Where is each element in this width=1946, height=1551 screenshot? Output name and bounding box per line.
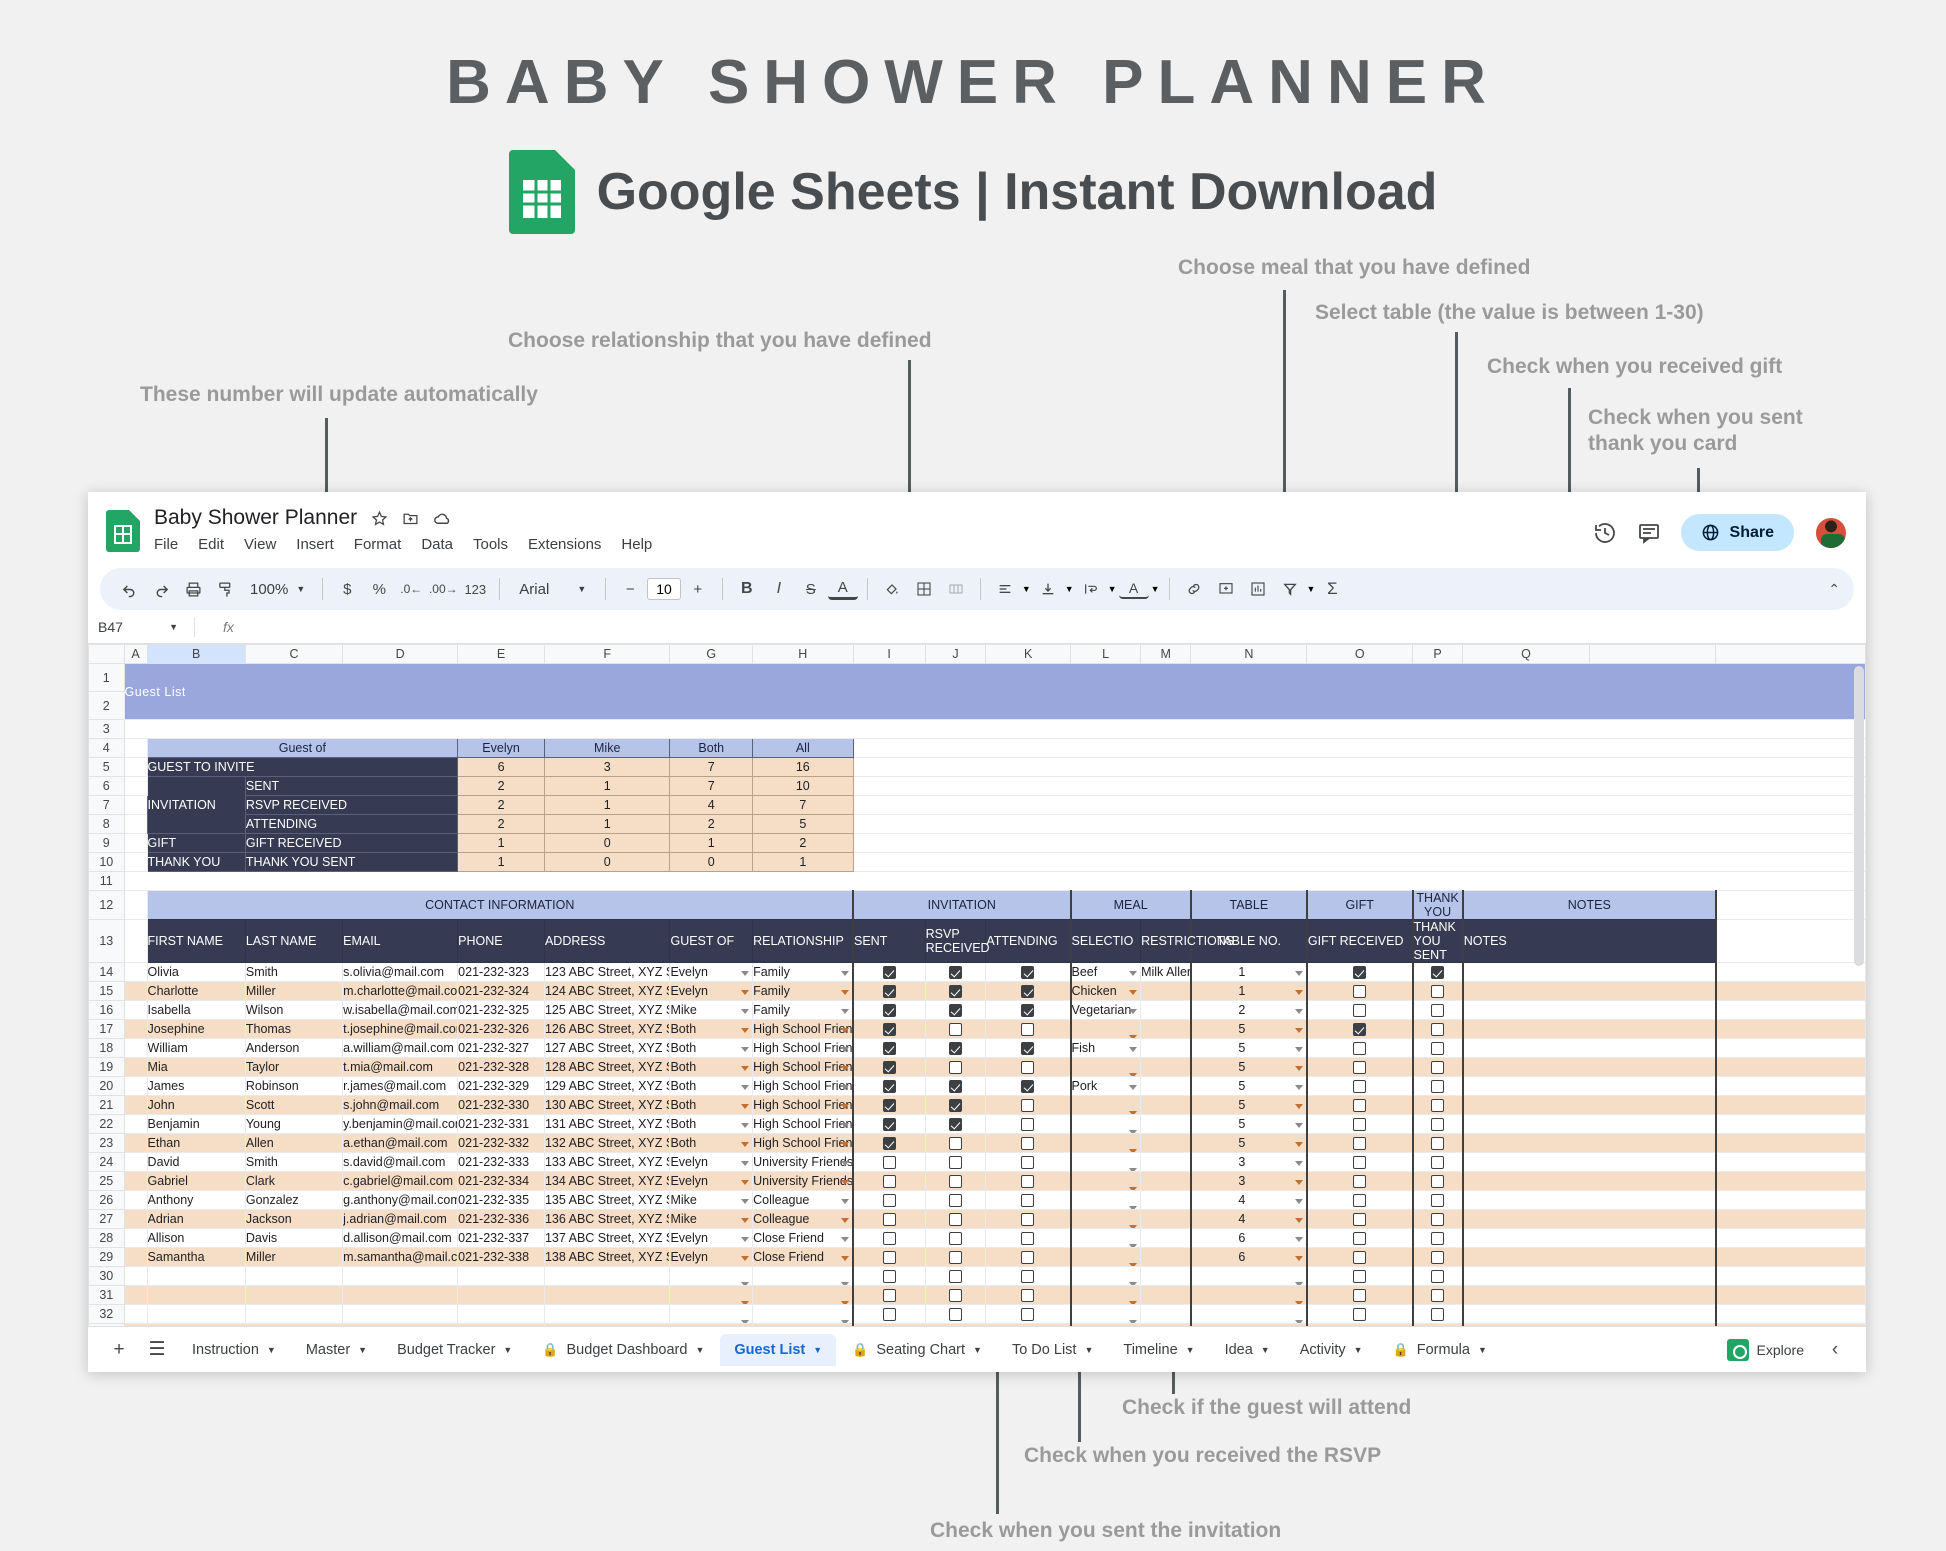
undo-icon[interactable] bbox=[114, 574, 144, 604]
cell-far-right[interactable] bbox=[1716, 1096, 1866, 1115]
cell-A[interactable] bbox=[124, 1001, 147, 1020]
sheet-tab-timeline[interactable]: Timeline▼ bbox=[1109, 1334, 1208, 1366]
col-I[interactable]: I bbox=[853, 645, 925, 664]
cell-phone[interactable]: 021-232-326 bbox=[458, 1020, 545, 1039]
table-row[interactable]: 16IsabellaWilsonw.isabella@mail.com021-2… bbox=[89, 1001, 1866, 1020]
table-row[interactable]: 22BenjaminYoungy.benjamin@mail.com021-23… bbox=[89, 1115, 1866, 1134]
cell-thankyou-sent[interactable] bbox=[1413, 1267, 1463, 1286]
cell-guest-of[interactable]: Evelyn bbox=[670, 1229, 753, 1248]
sheet-tab-master[interactable]: Master▼ bbox=[292, 1334, 381, 1366]
cell-gift-received[interactable] bbox=[1307, 1096, 1413, 1115]
cell-address[interactable] bbox=[544, 1286, 670, 1305]
cell-restrictions[interactable] bbox=[1141, 1305, 1191, 1324]
cell-address[interactable]: 124 ABC Street, XYZ State, 1( bbox=[544, 982, 670, 1001]
cell-sent[interactable] bbox=[853, 1134, 925, 1153]
checkbox-sent[interactable] bbox=[883, 1251, 896, 1264]
cell-first-name[interactable]: Anthony bbox=[147, 1191, 245, 1210]
cell-A[interactable] bbox=[124, 1039, 147, 1058]
cell-meal-selection[interactable] bbox=[1071, 1058, 1141, 1077]
checkbox-thankyou-sent[interactable] bbox=[1431, 1251, 1444, 1264]
cell-guest-of[interactable]: Both bbox=[670, 1077, 753, 1096]
cell-A[interactable] bbox=[124, 1153, 147, 1172]
cell-restrictions[interactable] bbox=[1141, 1153, 1191, 1172]
checkbox-attending[interactable] bbox=[1021, 1156, 1034, 1169]
cell-first-name[interactable]: Gabriel bbox=[147, 1172, 245, 1191]
cloud-saved-icon[interactable] bbox=[433, 510, 452, 527]
summary-val-1-3[interactable]: 10 bbox=[753, 777, 853, 796]
checkbox-gift-received[interactable] bbox=[1353, 1042, 1366, 1055]
empty-right-10[interactable] bbox=[853, 853, 1866, 872]
summary-val-3-0[interactable]: 2 bbox=[458, 815, 545, 834]
summary-val-2-3[interactable]: 7 bbox=[753, 796, 853, 815]
cell-phone[interactable]: 021-232-337 bbox=[458, 1229, 545, 1248]
cell-thankyou-sent[interactable] bbox=[1413, 1134, 1463, 1153]
cell-sent[interactable] bbox=[853, 1039, 925, 1058]
cell-attending[interactable] bbox=[986, 1096, 1071, 1115]
sheet-tab-instruction[interactable]: Instruction▼ bbox=[178, 1334, 290, 1366]
cell-table-no[interactable]: 1 bbox=[1191, 982, 1307, 1001]
sheet-tab-formula[interactable]: 🔒Formula▼ bbox=[1379, 1334, 1501, 1366]
cell-meal-selection[interactable] bbox=[1071, 1248, 1141, 1267]
checkbox-attending[interactable] bbox=[1021, 1023, 1034, 1036]
col-O[interactable]: O bbox=[1307, 645, 1413, 664]
menu-insert[interactable]: Insert bbox=[296, 536, 334, 553]
checkbox-sent[interactable] bbox=[883, 1023, 896, 1036]
checkbox-attending[interactable] bbox=[1021, 1099, 1034, 1112]
vertical-align-icon[interactable] bbox=[1033, 574, 1063, 604]
checkbox-gift-received[interactable] bbox=[1353, 1175, 1366, 1188]
checkbox-attending[interactable] bbox=[1021, 1118, 1034, 1131]
cell-sent[interactable] bbox=[853, 1286, 925, 1305]
checkbox-gift-received[interactable] bbox=[1353, 1270, 1366, 1283]
cell-email[interactable]: g.anthony@mail.com bbox=[343, 1191, 458, 1210]
cell-notes[interactable] bbox=[1463, 1001, 1716, 1020]
chevron-down-icon[interactable]: ▼ bbox=[358, 1345, 367, 1355]
checkbox-attending[interactable] bbox=[1021, 1004, 1034, 1017]
cell-notes[interactable] bbox=[1463, 1077, 1716, 1096]
col-H[interactable]: H bbox=[753, 645, 853, 664]
menu-help[interactable]: Help bbox=[621, 536, 652, 553]
comment-icon[interactable] bbox=[1637, 522, 1661, 544]
sheet-tab-to-do-list[interactable]: To Do List▼ bbox=[998, 1334, 1107, 1366]
row-header-14[interactable]: 14 bbox=[89, 963, 125, 982]
cell-restrictions[interactable] bbox=[1141, 1096, 1191, 1115]
checkbox-sent[interactable] bbox=[883, 1042, 896, 1055]
cell-relationship[interactable]: Colleague bbox=[753, 1191, 853, 1210]
cell-notes[interactable] bbox=[1463, 1229, 1716, 1248]
cell-restrictions[interactable] bbox=[1141, 1020, 1191, 1039]
cell-address[interactable]: 132 ABC Street, XYZ State, 1( bbox=[544, 1134, 670, 1153]
cell-A[interactable] bbox=[124, 1172, 147, 1191]
cell-attending[interactable] bbox=[986, 1134, 1071, 1153]
cell-thankyou-sent[interactable] bbox=[1413, 1153, 1463, 1172]
table-row[interactable]: 30 bbox=[89, 1267, 1866, 1286]
cell-table-no[interactable]: 4 bbox=[1191, 1210, 1307, 1229]
cell-notes[interactable] bbox=[1463, 963, 1716, 982]
col-G[interactable]: G bbox=[670, 645, 753, 664]
cell-table-no[interactable]: 5 bbox=[1191, 1020, 1307, 1039]
vertical-align-caret-icon[interactable]: ▼ bbox=[1065, 584, 1074, 594]
cell-relationship[interactable]: Family bbox=[753, 1001, 853, 1020]
cell-notes[interactable] bbox=[1463, 1210, 1716, 1229]
cell-address[interactable]: 134 ABC Street, XYZ State, 1( bbox=[544, 1172, 670, 1191]
cell-thankyou-sent[interactable] bbox=[1413, 1058, 1463, 1077]
cell-last-name[interactable]: Clark bbox=[245, 1172, 342, 1191]
insert-link-icon[interactable] bbox=[1179, 574, 1209, 604]
cell-phone[interactable]: 021-232-325 bbox=[458, 1001, 545, 1020]
checkbox-sent[interactable] bbox=[883, 1061, 896, 1074]
cell-notes[interactable] bbox=[1463, 1115, 1716, 1134]
chevron-down-icon[interactable]: ▼ bbox=[973, 1345, 982, 1355]
cell-attending[interactable] bbox=[986, 1020, 1071, 1039]
checkbox-gift-received[interactable] bbox=[1353, 1137, 1366, 1150]
cell-table-no[interactable]: 6 bbox=[1191, 1248, 1307, 1267]
summary-val-3-2[interactable]: 2 bbox=[670, 815, 753, 834]
cell-last-name[interactable]: Miller bbox=[245, 982, 342, 1001]
cell-meal-selection[interactable] bbox=[1071, 1267, 1141, 1286]
cell-gift-received[interactable] bbox=[1307, 963, 1413, 982]
strikethrough-icon[interactable]: S bbox=[796, 574, 826, 604]
cell-first-name[interactable]: Allison bbox=[147, 1229, 245, 1248]
cell-A[interactable] bbox=[124, 1286, 147, 1305]
cell-far-right[interactable] bbox=[1716, 1115, 1866, 1134]
cell-address[interactable]: 136 ABC Street, XYZ State, 1( bbox=[544, 1210, 670, 1229]
cell-email[interactable]: d.allison@mail.com bbox=[343, 1229, 458, 1248]
checkbox-attending[interactable] bbox=[1021, 1232, 1034, 1245]
cell-last-name[interactable]: Davis bbox=[245, 1229, 342, 1248]
document-title[interactable]: Baby Shower Planner bbox=[154, 506, 357, 530]
cell-last-name[interactable]: Robinson bbox=[245, 1077, 342, 1096]
cell-sent[interactable] bbox=[853, 982, 925, 1001]
cell-meal-selection[interactable] bbox=[1071, 1172, 1141, 1191]
cell-sent[interactable] bbox=[853, 1191, 925, 1210]
cell-table-no[interactable]: 5 bbox=[1191, 1134, 1307, 1153]
cell-far-right[interactable] bbox=[1716, 1020, 1866, 1039]
empty-right-8[interactable] bbox=[853, 815, 1866, 834]
cell-gift-received[interactable] bbox=[1307, 1210, 1413, 1229]
checkbox-thankyou-sent[interactable] bbox=[1431, 985, 1444, 998]
cell-relationship[interactable]: High School Friends bbox=[753, 1134, 853, 1153]
checkbox-thankyou-sent[interactable] bbox=[1431, 1137, 1444, 1150]
cell-guest-of[interactable]: Both bbox=[670, 1058, 753, 1077]
cell-address[interactable]: 137 ABC Street, XYZ State, 1( bbox=[544, 1229, 670, 1248]
checkbox-sent[interactable] bbox=[883, 1156, 896, 1169]
checkbox-sent[interactable] bbox=[883, 1099, 896, 1112]
cell-table-no[interactable]: 5 bbox=[1191, 1058, 1307, 1077]
row-header-10[interactable]: 10 bbox=[89, 853, 125, 872]
cell-A[interactable] bbox=[124, 1267, 147, 1286]
cell-first-name[interactable]: Samantha bbox=[147, 1248, 245, 1267]
summary-val-0-2[interactable]: 7 bbox=[670, 758, 753, 777]
checkbox-gift-received[interactable] bbox=[1353, 1023, 1366, 1036]
row-header-16[interactable]: 16 bbox=[89, 1001, 125, 1020]
checkbox-rsvp-received[interactable] bbox=[949, 1042, 962, 1055]
row-header-15[interactable]: 15 bbox=[89, 982, 125, 1001]
row-header-31[interactable]: 31 bbox=[89, 1286, 125, 1305]
cell-notes[interactable] bbox=[1463, 1096, 1716, 1115]
cell-sent[interactable] bbox=[853, 1172, 925, 1191]
sheet-tab-budget-tracker[interactable]: Budget Tracker▼ bbox=[383, 1334, 526, 1366]
cell-gift-received[interactable] bbox=[1307, 1001, 1413, 1020]
cell-phone[interactable] bbox=[458, 1286, 545, 1305]
cell-A6[interactable] bbox=[124, 777, 147, 796]
summary-val-4-2[interactable]: 1 bbox=[670, 834, 753, 853]
cell-attending[interactable] bbox=[986, 1077, 1071, 1096]
cell-address[interactable]: 131 ABC Street, XYZ State, 1( bbox=[544, 1115, 670, 1134]
select-all-corner[interactable] bbox=[89, 645, 125, 664]
chevron-down-icon[interactable]: ▼ bbox=[813, 1345, 822, 1355]
cell-last-name[interactable]: Wilson bbox=[245, 1001, 342, 1020]
cell-table-no[interactable]: 5 bbox=[1191, 1096, 1307, 1115]
row-header-21[interactable]: 21 bbox=[89, 1096, 125, 1115]
table-row[interactable]: 18WilliamAndersona.william@mail.com021-2… bbox=[89, 1039, 1866, 1058]
cell-relationship[interactable]: Family bbox=[753, 963, 853, 982]
cell-meal-selection[interactable]: Chicken bbox=[1071, 982, 1141, 1001]
table-row[interactable]: 24DavidSmiths.david@mail.com021-232-3331… bbox=[89, 1153, 1866, 1172]
checkbox-rsvp-received[interactable] bbox=[949, 1175, 962, 1188]
checkbox-attending[interactable] bbox=[1021, 966, 1034, 979]
col-P[interactable]: P bbox=[1413, 645, 1463, 664]
checkbox-thankyou-sent[interactable] bbox=[1431, 966, 1444, 979]
empty-right-5[interactable] bbox=[853, 758, 1866, 777]
sheet-tab-seating-chart[interactable]: 🔒Seating Chart▼ bbox=[838, 1334, 996, 1366]
cell-attending[interactable] bbox=[986, 1210, 1071, 1229]
row-header-4[interactable]: 4 bbox=[89, 739, 125, 758]
cell-attending[interactable] bbox=[986, 963, 1071, 982]
cell-notes[interactable] bbox=[1463, 1191, 1716, 1210]
cell-rsvp-received[interactable] bbox=[925, 1229, 986, 1248]
cell-thankyou-sent[interactable] bbox=[1413, 1039, 1463, 1058]
cell-table-no[interactable] bbox=[1191, 1286, 1307, 1305]
cell-thankyou-sent[interactable] bbox=[1413, 963, 1463, 982]
text-wrap-caret-icon[interactable]: ▼ bbox=[1108, 584, 1117, 594]
table-row[interactable]: 29SamanthaMillerm.samantha@mail.com021-2… bbox=[89, 1248, 1866, 1267]
cell-A[interactable] bbox=[124, 1077, 147, 1096]
checkbox-gift-received[interactable] bbox=[1353, 1118, 1366, 1131]
menu-extensions[interactable]: Extensions bbox=[528, 536, 601, 553]
checkbox-rsvp-received[interactable] bbox=[949, 1232, 962, 1245]
text-wrap-icon[interactable] bbox=[1076, 574, 1106, 604]
cell-notes[interactable] bbox=[1463, 1039, 1716, 1058]
redo-icon[interactable] bbox=[146, 574, 176, 604]
cell-thankyou-sent[interactable] bbox=[1413, 1286, 1463, 1305]
cell-email[interactable]: w.isabella@mail.com bbox=[343, 1001, 458, 1020]
cell-far-right[interactable] bbox=[1716, 963, 1866, 982]
cell-relationship[interactable] bbox=[753, 1305, 853, 1324]
collapse-toolbar-icon[interactable]: ⌃ bbox=[1828, 581, 1840, 598]
name-box[interactable]: B47▼ bbox=[98, 619, 184, 635]
cell-A4[interactable] bbox=[124, 739, 147, 758]
cell-rsvp-received[interactable] bbox=[925, 1077, 986, 1096]
cell-notes[interactable] bbox=[1463, 1267, 1716, 1286]
summary-val-5-3[interactable]: 1 bbox=[753, 853, 853, 872]
checkbox-gift-received[interactable] bbox=[1353, 1232, 1366, 1245]
cell-thankyou-sent[interactable] bbox=[1413, 1020, 1463, 1039]
cell-phone[interactable]: 021-232-336 bbox=[458, 1210, 545, 1229]
cell-gift-received[interactable] bbox=[1307, 1229, 1413, 1248]
table-row[interactable]: 27AdrianJacksonj.adrian@mail.com021-232-… bbox=[89, 1210, 1866, 1229]
cell-thankyou-sent[interactable] bbox=[1413, 1248, 1463, 1267]
cell-sent[interactable] bbox=[853, 963, 925, 982]
cell-relationship[interactable]: High School Friends bbox=[753, 1077, 853, 1096]
cell-A[interactable] bbox=[124, 1058, 147, 1077]
cell-first-name[interactable] bbox=[147, 1267, 245, 1286]
cell-gift-received[interactable] bbox=[1307, 1286, 1413, 1305]
cell-far-right[interactable] bbox=[1716, 1267, 1866, 1286]
cell-first-name[interactable]: Josephine bbox=[147, 1020, 245, 1039]
summary-val-0-1[interactable]: 3 bbox=[544, 758, 670, 777]
cell-last-name[interactable]: Smith bbox=[245, 1153, 342, 1172]
checkbox-attending[interactable] bbox=[1021, 1080, 1034, 1093]
cell-guest-of[interactable]: Evelyn bbox=[670, 1172, 753, 1191]
cell-restrictions[interactable] bbox=[1141, 1267, 1191, 1286]
cell-gift-received[interactable] bbox=[1307, 982, 1413, 1001]
vertical-scrollbar[interactable] bbox=[1854, 666, 1864, 1346]
row-header-8[interactable]: 8 bbox=[89, 815, 125, 834]
cell-A[interactable] bbox=[124, 1305, 147, 1324]
spreadsheet-grid[interactable]: A B C D E F G H I J K L M N O P Q bbox=[88, 644, 1866, 1372]
cell-attending[interactable] bbox=[986, 1001, 1071, 1020]
row-header-6[interactable]: 6 bbox=[89, 777, 125, 796]
cell-thankyou-sent[interactable] bbox=[1413, 1001, 1463, 1020]
cell-table-no[interactable]: 4 bbox=[1191, 1191, 1307, 1210]
cell-relationship[interactable]: University Friends bbox=[753, 1153, 853, 1172]
cell-email[interactable]: j.adrian@mail.com bbox=[343, 1210, 458, 1229]
cell-phone[interactable]: 021-232-323 bbox=[458, 963, 545, 982]
summary-val-5-2[interactable]: 0 bbox=[670, 853, 753, 872]
col-B[interactable]: B bbox=[147, 645, 245, 664]
cell-email[interactable]: a.ethan@mail.com bbox=[343, 1134, 458, 1153]
cell-rsvp-received[interactable] bbox=[925, 1058, 986, 1077]
row-header-20[interactable]: 20 bbox=[89, 1077, 125, 1096]
cell-A[interactable] bbox=[124, 982, 147, 1001]
checkbox-sent[interactable] bbox=[883, 966, 896, 979]
checkbox-rsvp-received[interactable] bbox=[949, 1156, 962, 1169]
cell-email[interactable]: s.david@mail.com bbox=[343, 1153, 458, 1172]
cell-table-no[interactable]: 2 bbox=[1191, 1001, 1307, 1020]
cell-notes[interactable] bbox=[1463, 1172, 1716, 1191]
cell-notes[interactable] bbox=[1463, 1248, 1716, 1267]
table-row[interactable]: 28AllisonDavisd.allison@mail.com021-232-… bbox=[89, 1229, 1866, 1248]
cell-table-no[interactable]: 5 bbox=[1191, 1115, 1307, 1134]
checkbox-gift-received[interactable] bbox=[1353, 966, 1366, 979]
cell-far-right-13[interactable] bbox=[1716, 920, 1866, 963]
menu-format[interactable]: Format bbox=[354, 536, 402, 553]
cell-meal-selection[interactable] bbox=[1071, 1191, 1141, 1210]
cell-attending[interactable] bbox=[986, 1115, 1071, 1134]
row-header-9[interactable]: 9 bbox=[89, 834, 125, 853]
increase-font-size-icon[interactable]: + bbox=[683, 574, 713, 604]
cell-relationship[interactable]: High School Friends bbox=[753, 1020, 853, 1039]
insert-comment-icon[interactable] bbox=[1211, 574, 1241, 604]
checkbox-rsvp-received[interactable] bbox=[949, 1270, 962, 1283]
cell-thankyou-sent[interactable] bbox=[1413, 982, 1463, 1001]
cell-email[interactable]: y.benjamin@mail.com bbox=[343, 1115, 458, 1134]
table-row[interactable]: 21JohnScotts.john@mail.com021-232-330130… bbox=[89, 1096, 1866, 1115]
empty-right-7[interactable] bbox=[853, 796, 1866, 815]
checkbox-rsvp-received[interactable] bbox=[949, 1251, 962, 1264]
cell-rsvp-received[interactable] bbox=[925, 1248, 986, 1267]
cell-restrictions[interactable] bbox=[1141, 1115, 1191, 1134]
cell-guest-of[interactable]: Both bbox=[670, 1096, 753, 1115]
row-header-28[interactable]: 28 bbox=[89, 1229, 125, 1248]
cell-sent[interactable] bbox=[853, 1115, 925, 1134]
cell-restrictions[interactable] bbox=[1141, 1248, 1191, 1267]
checkbox-attending[interactable] bbox=[1021, 1061, 1034, 1074]
row-header-12[interactable]: 12 bbox=[89, 891, 125, 920]
cell-phone[interactable]: 021-232-330 bbox=[458, 1096, 545, 1115]
row-header-26[interactable]: 26 bbox=[89, 1191, 125, 1210]
col-M[interactable]: M bbox=[1141, 645, 1191, 664]
table-row[interactable]: 23EthanAllena.ethan@mail.com021-232-3321… bbox=[89, 1134, 1866, 1153]
cell-sent[interactable] bbox=[853, 1267, 925, 1286]
cell-gift-received[interactable] bbox=[1307, 1039, 1413, 1058]
cell-restrictions[interactable] bbox=[1141, 1039, 1191, 1058]
menu-edit[interactable]: Edit bbox=[198, 536, 224, 553]
cell-far-right[interactable] bbox=[1716, 1039, 1866, 1058]
row-header-13[interactable]: 13 bbox=[89, 920, 125, 963]
cell-guest-of[interactable]: Mike bbox=[670, 1210, 753, 1229]
row-header-17[interactable]: 17 bbox=[89, 1020, 125, 1039]
cell-meal-selection[interactable]: Beef bbox=[1071, 963, 1141, 982]
cell-sent[interactable] bbox=[853, 1058, 925, 1077]
sheet-tab-idea[interactable]: Idea▼ bbox=[1211, 1334, 1284, 1366]
cell-gift-received[interactable] bbox=[1307, 1134, 1413, 1153]
cell-meal-selection[interactable]: Vegetarian bbox=[1071, 1001, 1141, 1020]
checkbox-rsvp-received[interactable] bbox=[949, 1061, 962, 1074]
cell-email[interactable] bbox=[343, 1267, 458, 1286]
cell-far-right[interactable] bbox=[1716, 982, 1866, 1001]
chevron-down-icon[interactable]: ▼ bbox=[1354, 1345, 1363, 1355]
checkbox-attending[interactable] bbox=[1021, 1137, 1034, 1150]
chevron-down-icon[interactable]: ▼ bbox=[1261, 1345, 1270, 1355]
cell-rsvp-received[interactable] bbox=[925, 1020, 986, 1039]
chevron-down-icon[interactable]: ▼ bbox=[1186, 1345, 1195, 1355]
cell-last-name[interactable]: Anderson bbox=[245, 1039, 342, 1058]
checkbox-attending[interactable] bbox=[1021, 1042, 1034, 1055]
checkbox-rsvp-received[interactable] bbox=[949, 1080, 962, 1093]
checkbox-thankyou-sent[interactable] bbox=[1431, 1004, 1444, 1017]
checkbox-sent[interactable] bbox=[883, 1118, 896, 1131]
row-header-1[interactable]: 1 bbox=[89, 664, 125, 692]
cell-last-name[interactable]: Scott bbox=[245, 1096, 342, 1115]
table-row[interactable]: 15CharlotteMillerm.charlotte@mail.com021… bbox=[89, 982, 1866, 1001]
insert-chart-icon[interactable] bbox=[1243, 574, 1273, 604]
cell-gift-received[interactable] bbox=[1307, 1153, 1413, 1172]
text-rotation-caret-icon[interactable]: ▼ bbox=[1151, 584, 1160, 594]
empty-right-6[interactable] bbox=[853, 777, 1866, 796]
table-row[interactable]: 20JamesRobinsonr.james@mail.com021-232-3… bbox=[89, 1077, 1866, 1096]
cell-guest-of[interactable] bbox=[670, 1267, 753, 1286]
cell-sent[interactable] bbox=[853, 1077, 925, 1096]
cell-phone[interactable]: 021-232-329 bbox=[458, 1077, 545, 1096]
cell-restrictions[interactable] bbox=[1141, 1286, 1191, 1305]
cell-relationship[interactable] bbox=[753, 1286, 853, 1305]
checkbox-rsvp-received[interactable] bbox=[949, 1213, 962, 1226]
checkbox-attending[interactable] bbox=[1021, 1289, 1034, 1302]
summary-val-5-1[interactable]: 0 bbox=[544, 853, 670, 872]
row-header-7[interactable]: 7 bbox=[89, 796, 125, 815]
cell-A[interactable] bbox=[124, 1134, 147, 1153]
cell-rsvp-received[interactable] bbox=[925, 1305, 986, 1324]
cell-rsvp-received[interactable] bbox=[925, 1286, 986, 1305]
cell-last-name[interactable] bbox=[245, 1267, 342, 1286]
cell-guest-of[interactable] bbox=[670, 1305, 753, 1324]
cell-notes[interactable] bbox=[1463, 1305, 1716, 1324]
cell-rsvp-received[interactable] bbox=[925, 1039, 986, 1058]
cell-attending[interactable] bbox=[986, 1286, 1071, 1305]
cell-gift-received[interactable] bbox=[1307, 1077, 1413, 1096]
